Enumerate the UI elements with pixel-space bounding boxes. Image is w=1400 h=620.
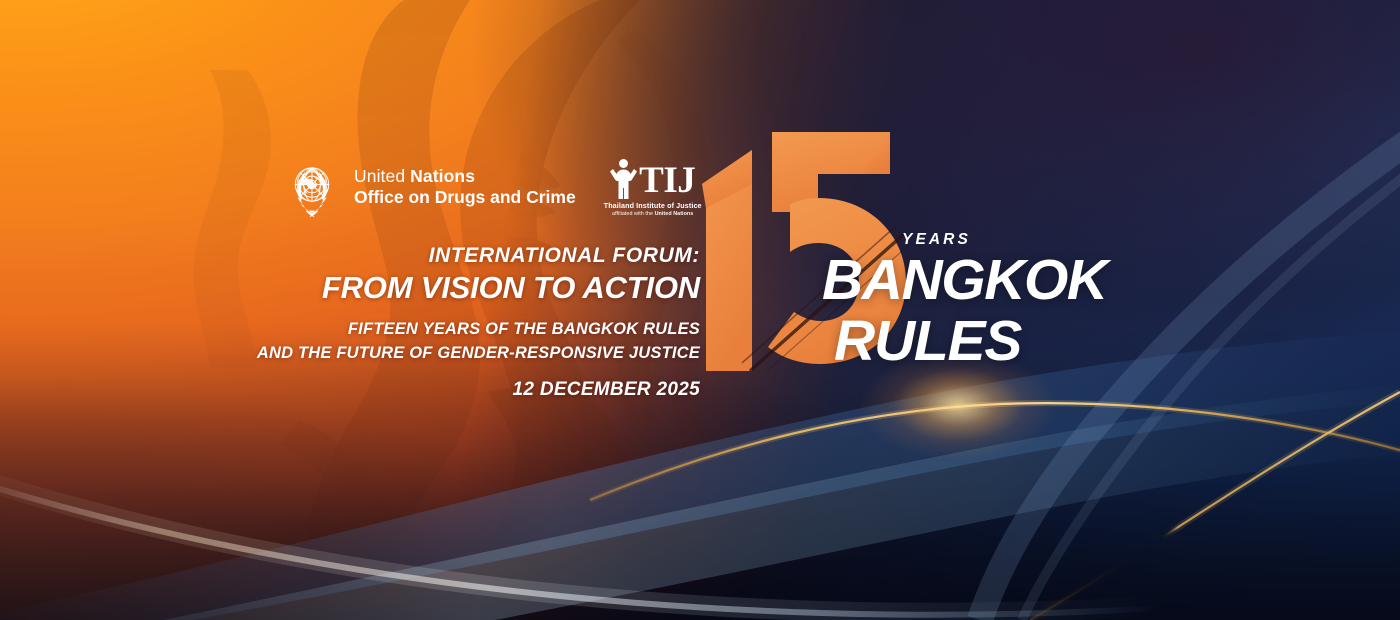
- unodc-line-2: Office on Drugs and Crime: [354, 187, 576, 208]
- headline-title: FROM VISION TO ACTION: [257, 270, 700, 307]
- unodc-logo: United Nations Office on Drugs and Crime: [281, 156, 576, 218]
- tij-letters: TIJ: [639, 164, 695, 198]
- lockup-line-rules: RULES: [834, 315, 1107, 367]
- tij-person-icon: [610, 158, 637, 199]
- event-date: 12 DECEMBER 2025: [257, 379, 700, 401]
- headline-subtitle: FIFTEEN YEARS OF THE BANGKOK RULES AND T…: [257, 318, 700, 365]
- tij-subtitle: Thailand Institute of Justice: [604, 201, 702, 210]
- un-emblem-icon: [281, 156, 343, 218]
- unodc-line-1: United Nations: [354, 166, 576, 187]
- tij-mark: TIJ: [610, 158, 695, 199]
- headline-subtitle-line-1: FIFTEEN YEARS OF THE BANGKOK RULES: [257, 318, 700, 341]
- logo-row: United Nations Office on Drugs and Crime…: [281, 156, 702, 218]
- event-banner: United Nations Office on Drugs and Crime…: [0, 0, 1400, 620]
- headline-subtitle-line-2: AND THE FUTURE OF GENDER-RESPONSIVE JUST…: [257, 342, 700, 365]
- lockup-line-bangkok: BANGKOK: [822, 254, 1107, 306]
- headline-block: INTERNATIONAL FORUM: FROM VISION TO ACTI…: [257, 244, 700, 401]
- decorative-arcs: [0, 0, 1400, 620]
- anniversary-lockup: YEARS BANGKOK RULES: [822, 232, 1107, 367]
- years-label: YEARS: [902, 232, 1107, 248]
- tij-affiliation: affiliated with the United Nations: [612, 211, 693, 217]
- tij-logo: TIJ Thailand Institute of Justice affili…: [604, 158, 702, 217]
- headline-eyebrow: INTERNATIONAL FORUM:: [257, 244, 700, 269]
- unodc-wordmark: United Nations Office on Drugs and Crime: [354, 166, 576, 209]
